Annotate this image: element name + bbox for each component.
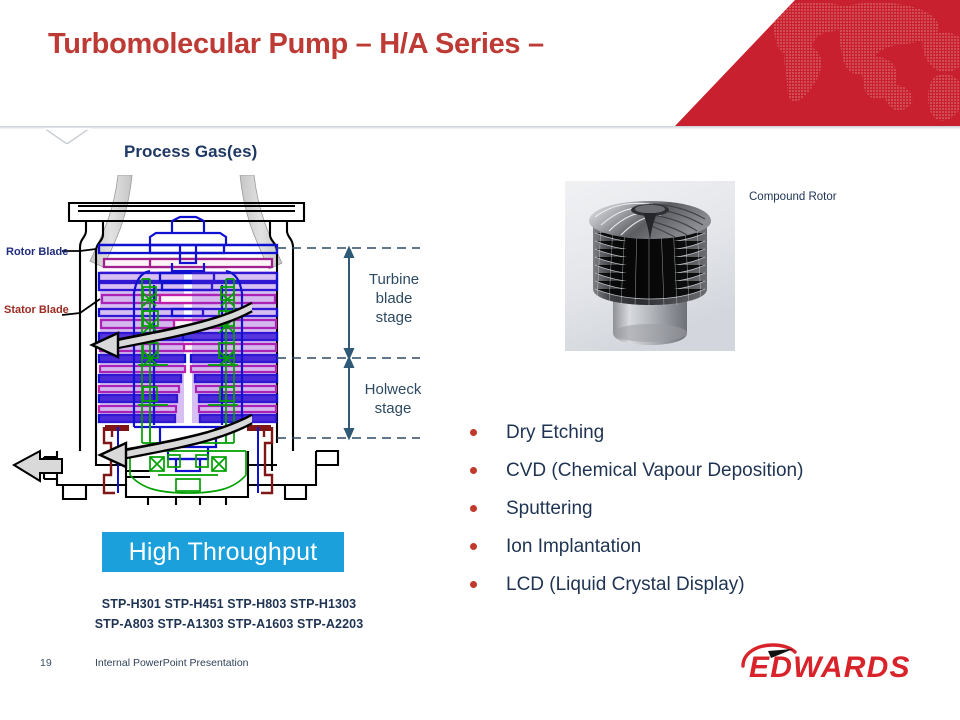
stator-blade-label: Stator Blade [4,304,69,316]
list-item: LCD (Liquid Crystal Display) [470,570,940,608]
compound-rotor-photo [565,181,735,351]
pump-cross-section-diagram [0,175,440,505]
list-item-label: CVD (Chemical Vapour Deposition) [506,456,803,485]
edwards-logo: EDWARDS [735,640,925,688]
list-item-label: Sputtering [506,494,593,523]
bullet-dot-icon [470,467,477,474]
header-accent-shape [630,0,960,126]
slide-header: Turbomolecular Pump – H/A Series – [0,0,960,128]
high-throughput-badge: High Throughput [102,532,344,572]
model-row-h: STP-H301 STP-H451 STP-H803 STP-H1303 [64,594,394,614]
chevron-notch-icon [44,128,90,144]
list-item-label: Ion Implantation [506,532,641,561]
list-item: Sputtering [470,494,940,532]
bullet-dot-icon [470,505,477,512]
list-item-label: LCD (Liquid Crystal Display) [506,570,745,599]
compound-rotor-caption: Compound Rotor [749,191,837,203]
holweck-stage-label: Holweck stage [352,380,434,418]
edwards-wordmark: EDWARDS [749,651,911,684]
list-item: Dry Etching [470,418,940,456]
process-gas-label: Process Gas(es) [124,142,257,162]
bullet-dot-icon [470,543,477,550]
exhaust-arrow-icon [14,451,62,481]
bullet-dot-icon [470,581,477,588]
list-item: CVD (Chemical Vapour Deposition) [470,456,940,494]
page-number: 19 [40,657,52,669]
model-row-a: STP-A803 STP-A1303 STP-A1603 STP-A2203 [64,614,394,634]
model-number-list: STP-H301 STP-H451 STP-H803 STP-H1303 STP… [64,594,394,635]
bullet-dot-icon [470,429,477,436]
list-item-label: Dry Etching [506,418,604,447]
header-divider [0,126,960,129]
slide-canvas: Turbomolecular Pump – H/A Series – Proce… [0,0,960,720]
applications-list: Dry Etching CVD (Chemical Vapour Deposit… [470,418,940,608]
rotor-blade-label: Rotor Blade [6,246,68,258]
page-title: Turbomolecular Pump – H/A Series – [48,28,544,61]
list-item: Ion Implantation [470,532,940,570]
footer-note: Internal PowerPoint Presentation [95,657,249,669]
turbine-stage-label: Turbine blade stage [358,270,430,328]
